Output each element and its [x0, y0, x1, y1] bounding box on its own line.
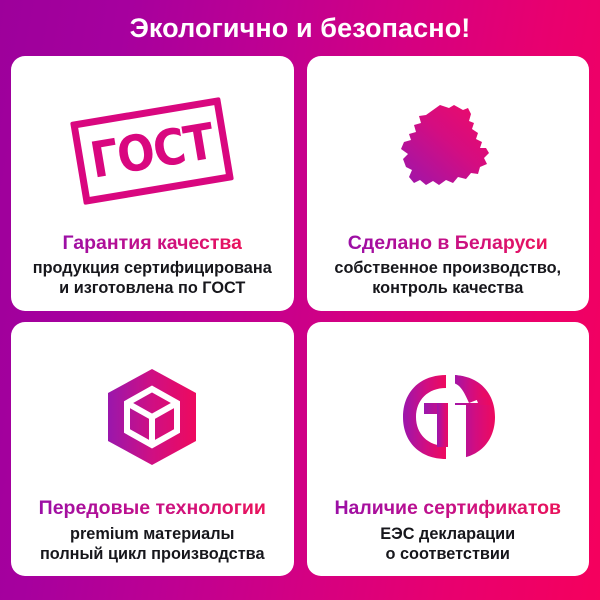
belarus-map-shape [392, 101, 504, 201]
card-body-line: о соответствии [380, 544, 515, 564]
card-body-line: собственное производство, [334, 258, 561, 278]
card-body: ЕЭС декларации о соответствии [380, 524, 515, 564]
gost-stamp-border: ГОСТ [70, 97, 234, 205]
gost-stamp-icon: ГОСТ [19, 70, 286, 233]
card-made-in-belarus[interactable]: Сделано в Беларуси собственное производс… [307, 56, 590, 311]
card-body-line: контроль качества [334, 278, 561, 298]
card-quality-guarantee[interactable]: ГОСТ Гарантия качества продукция сертифи… [11, 56, 294, 311]
card-body-line: и изготовлена по ГОСТ [33, 278, 272, 298]
card-body: premium материалы полный цикл производст… [40, 524, 265, 564]
card-heading: Гарантия качества [62, 233, 242, 255]
feature-card-grid: ГОСТ Гарантия качества продукция сертифи… [0, 56, 600, 590]
gost-stamp-label: ГОСТ [87, 113, 218, 190]
stb-logo-shape [392, 369, 504, 465]
stb-certificate-icon [315, 336, 582, 499]
card-body: собственное производство, контроль качес… [334, 258, 561, 298]
hexagon-cube-icon [19, 336, 286, 499]
card-body-line: продукция сертифицирована [33, 258, 272, 278]
card-certificates[interactable]: Наличие сертификатов ЕЭС декларации о со… [307, 322, 590, 577]
card-body-line: premium материалы [40, 524, 265, 544]
card-heading: Наличие сертификатов [334, 498, 561, 520]
card-heading: Передовые технологии [39, 498, 266, 520]
card-body-line: ЕЭС декларации [380, 524, 515, 544]
card-heading: Сделано в Беларуси [348, 233, 548, 255]
header-banner: Экологично и безопасно! [0, 0, 600, 56]
belarus-map-icon [315, 70, 582, 233]
card-body: продукция сертифицирована и изготовлена … [33, 258, 272, 298]
card-body-line: полный цикл производства [40, 544, 265, 564]
hexagon-cube-shape [104, 367, 200, 467]
card-advanced-technologies[interactable]: Передовые технологии premium материалы п… [11, 322, 294, 577]
page-title: Экологично и безопасно! [130, 13, 471, 44]
